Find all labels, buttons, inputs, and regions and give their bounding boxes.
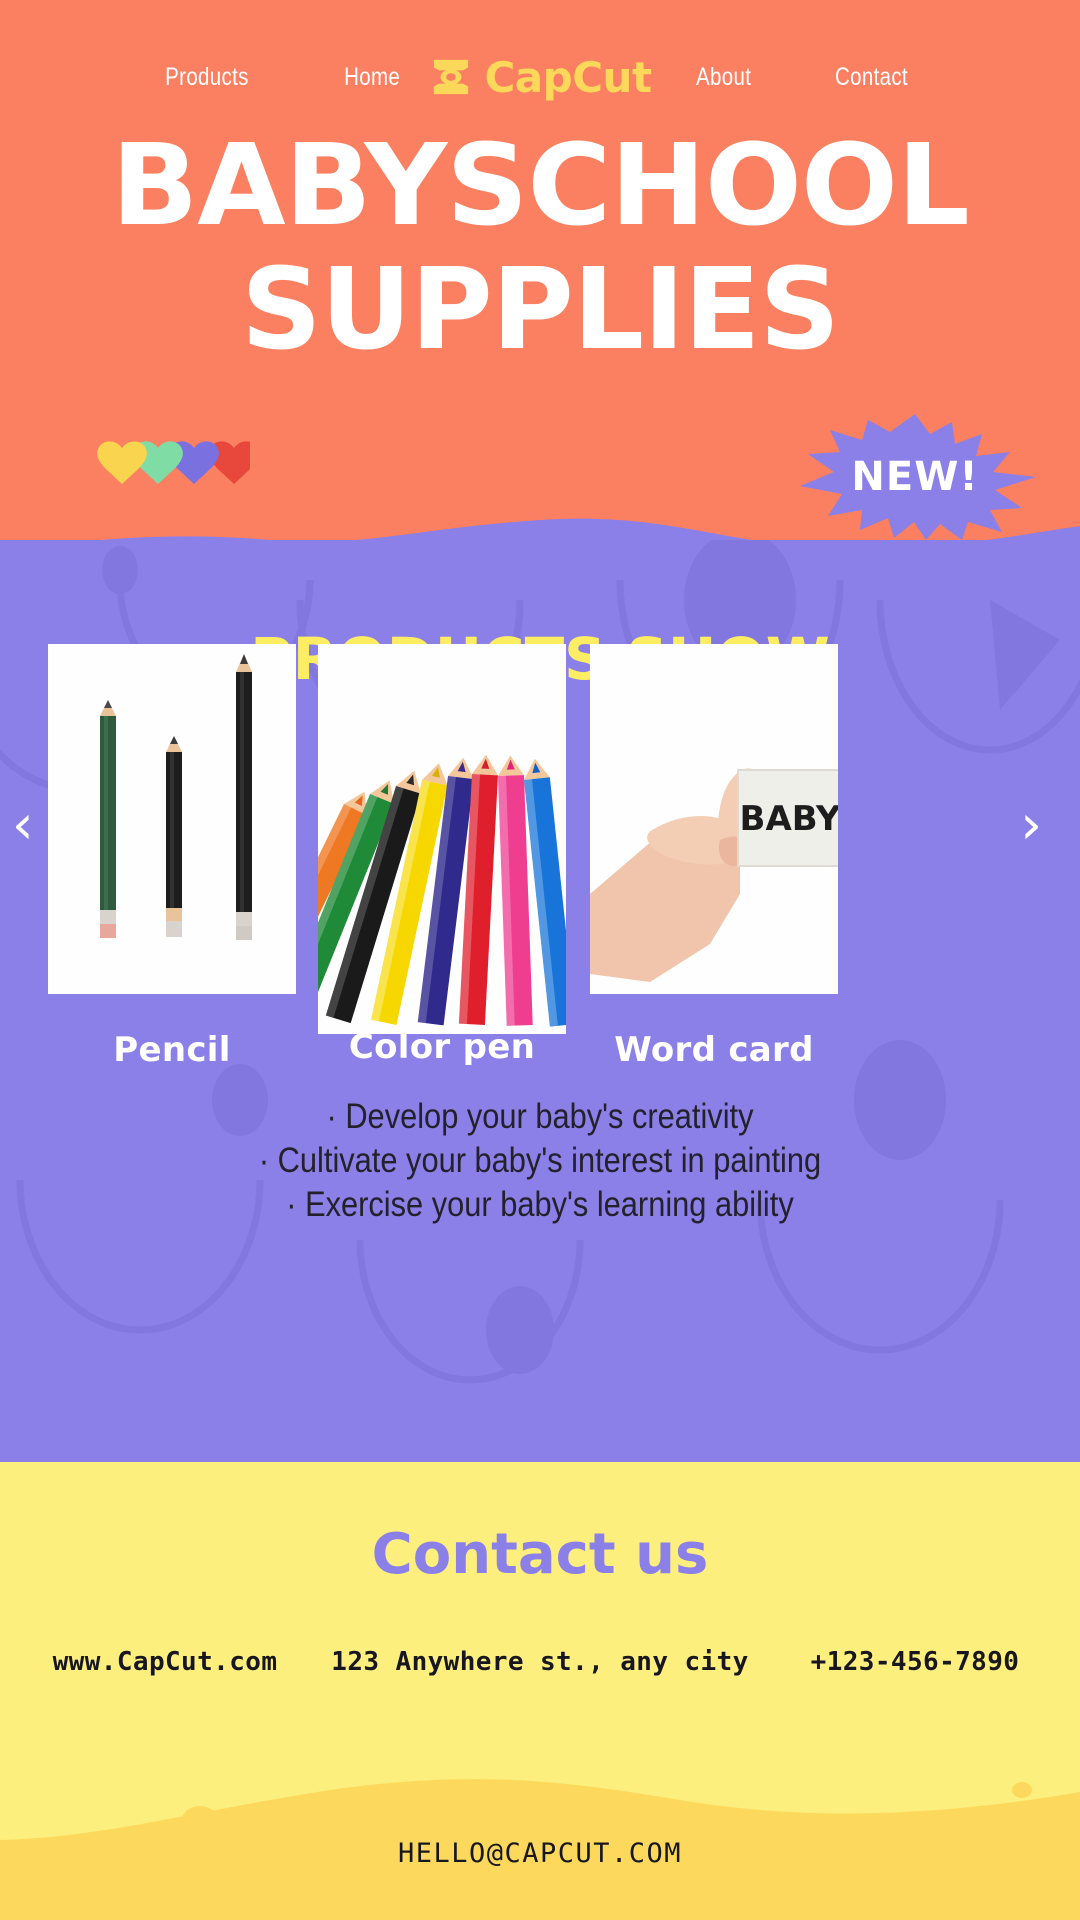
capcut-logo-icon [428, 57, 474, 97]
page-title: BABYSCHOOL SUPPLIES [0, 130, 1080, 366]
product-card-word-card[interactable]: BABY [590, 644, 838, 994]
benefit-item-3: · Exercise your baby's learning ability [65, 1183, 1015, 1227]
new-badge-label: NEW! [790, 412, 1040, 542]
brand-name: CapCut [484, 53, 651, 102]
product-cards: BABY Pencil Color pen Word card ‹ › [0, 540, 1080, 1470]
contact-details-row: www.CapCut.com 123 Anywhere st., any cit… [0, 1642, 1080, 1682]
hand-holding-baby-word-card-photo: BABY [590, 644, 838, 994]
contact-phone[interactable]: +123-456-7890 [750, 1647, 1080, 1677]
footer-dot-decorations [0, 1720, 1080, 1920]
products-section: PRODUCTS SHOW [0, 540, 1080, 1470]
word-card-text: BABY [740, 799, 838, 839]
nav-item-home[interactable]: Home [344, 63, 400, 92]
product-benefits-list: · Develop your baby's creativity · Culti… [0, 1095, 1080, 1226]
contact-website[interactable]: www.CapCut.com [0, 1647, 330, 1677]
three-pencils-photo [48, 644, 296, 994]
poster-page: Products Home CapCut About Contact [0, 0, 1080, 1920]
nav-right-group: About Contact [652, 63, 1032, 92]
nav-left-group: Products Home [48, 63, 428, 92]
product-card-pencil[interactable] [48, 644, 296, 994]
contact-title: Contact us [0, 1522, 1080, 1587]
carousel-prev-arrow-icon[interactable]: ‹ [12, 798, 34, 852]
contact-address: 123 Anywhere st., any city [330, 1647, 750, 1677]
colored-pencils-fan-photo [318, 644, 566, 1034]
benefit-item-1: · Develop your baby's creativity [65, 1095, 1015, 1139]
hero-title-line2: SUPPLIES [0, 254, 1080, 366]
contact-email[interactable]: HELLO@CAPCUT.COM [0, 1838, 1080, 1869]
nav-item-contact[interactable]: Contact [835, 63, 908, 92]
carousel-next-arrow-icon[interactable]: › [1020, 798, 1042, 852]
main-navigation: Products Home CapCut About Contact [0, 46, 1080, 108]
nav-item-products[interactable]: Products [165, 63, 249, 92]
hero-section: Products Home CapCut About Contact [0, 0, 1080, 600]
heart-decorations [50, 438, 250, 515]
product-card-color-pen[interactable] [318, 644, 566, 1034]
brand-logo-group[interactable]: CapCut [428, 53, 651, 102]
new-badge: NEW! [790, 412, 1040, 542]
nav-item-about[interactable]: About [696, 63, 751, 92]
product-label-color-pen: Color pen [318, 1027, 566, 1067]
product-label-word-card: Word card [590, 1030, 838, 1070]
hearts-svg [50, 438, 250, 510]
benefit-item-2: · Cultivate your baby's interest in pain… [65, 1139, 1015, 1183]
product-label-pencil: Pencil [48, 1030, 296, 1070]
capcut-logo-svg [428, 57, 474, 97]
contact-footer: Contact us www.CapCut.com 123 Anywhere s… [0, 1462, 1080, 1920]
hero-title-line1: BABYSCHOOL [0, 130, 1080, 242]
